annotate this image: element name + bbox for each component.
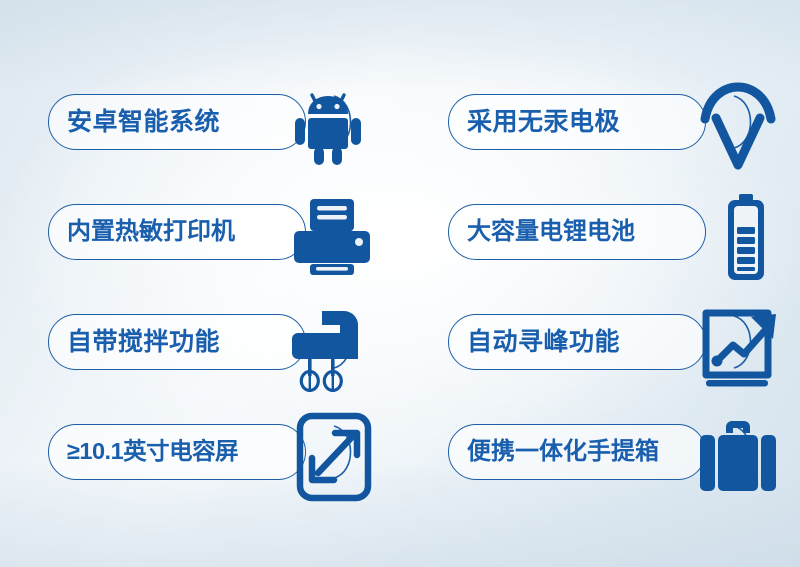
feature-pill: 内置热敏打印机 xyxy=(48,204,306,260)
pill-end-arc xyxy=(330,94,372,150)
feature-label: 大容量电锂电池 xyxy=(467,220,635,244)
feature-label: 自动寻峰功能 xyxy=(467,330,620,355)
feature-card-lithium-battery[interactable]: 大容量电锂电池 xyxy=(400,182,800,292)
feature-card-stirring[interactable]: 自带搅拌功能 xyxy=(0,292,400,402)
feature-label: 自带搅拌功能 xyxy=(67,330,220,355)
feature-pill: ≥10.1英寸电容屏 xyxy=(48,424,306,480)
feature-grid: 安卓智能系统 xyxy=(0,0,800,567)
pill-end-arc xyxy=(330,424,372,480)
feature-pill: 安卓智能系统 xyxy=(48,94,306,150)
feature-pill: 自动寻峰功能 xyxy=(448,314,706,370)
pill-end-arc xyxy=(730,94,772,150)
pill-end-arc xyxy=(730,204,772,260)
feature-label: 安卓智能系统 xyxy=(67,110,220,135)
battery-icon xyxy=(700,191,792,283)
feature-pill: 采用无汞电极 xyxy=(448,94,706,150)
feature-label: 便携一体化手提箱 xyxy=(467,440,659,464)
pill-end-arc xyxy=(730,424,772,480)
feature-card-thermal-printer[interactable]: 内置热敏打印机 xyxy=(0,182,400,292)
pill-end-arc xyxy=(330,314,372,370)
feature-card-android-os[interactable]: 安卓智能系统 xyxy=(0,72,400,182)
pill-end-arc xyxy=(330,204,372,260)
feature-card-peak-finding[interactable]: 自动寻峰功能 xyxy=(400,292,800,402)
feature-pill: 自带搅拌功能 xyxy=(48,314,306,370)
feature-label: ≥10.1英寸电容屏 xyxy=(67,440,238,464)
feature-card-mercury-free[interactable]: 采用无汞电极 xyxy=(400,72,800,182)
feature-label: 采用无汞电极 xyxy=(467,110,620,135)
feature-label: 内置热敏打印机 xyxy=(67,220,235,244)
feature-pill: 便携一体化手提箱 xyxy=(448,424,706,480)
briefcase-icon xyxy=(692,411,784,503)
feature-card-capacitive-screen[interactable]: ≥10.1英寸电容屏 xyxy=(0,402,400,512)
pill-end-arc xyxy=(730,314,772,370)
feature-card-portable-case[interactable]: 便携一体化手提箱 xyxy=(400,402,800,512)
chart-up-icon xyxy=(692,301,784,393)
feature-pill: 大容量电锂电池 xyxy=(448,204,706,260)
